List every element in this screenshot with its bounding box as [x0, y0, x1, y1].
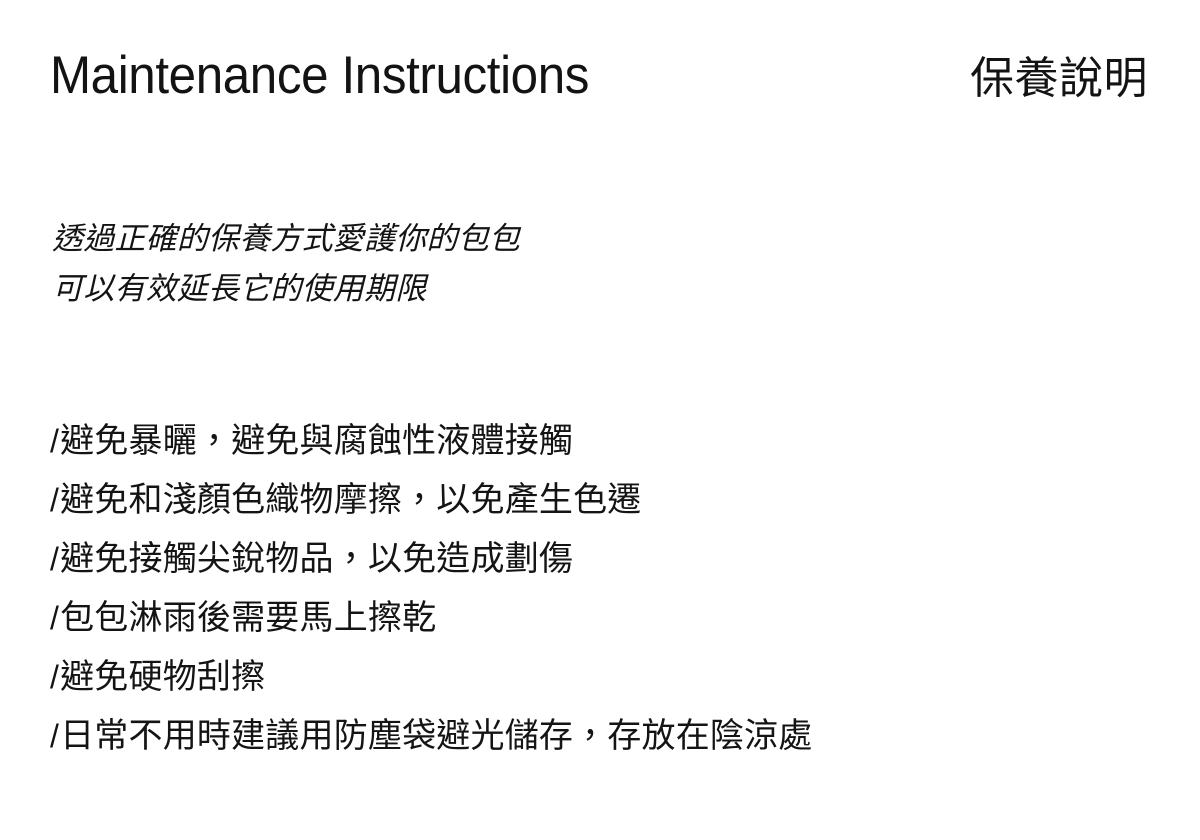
list-item: / 避免接觸尖銳物品，以免造成劃傷	[50, 530, 813, 589]
list-item: / 包包淋雨後需要馬上擦乾	[50, 589, 813, 648]
page-header: Maintenance Instructions 保養說明	[50, 44, 1148, 116]
list-item-label: 日常不用時建議用防塵袋避光儲存，存放在陰涼處	[60, 707, 812, 766]
page-title-english: Maintenance Instructions	[50, 44, 589, 108]
intro-paragraph: 透過正確的保養方式愛護你的包包 可以有效延長它的使用期限	[52, 214, 520, 314]
list-item-label: 包包淋雨後需要馬上擦乾	[60, 589, 436, 648]
list-item: / 日常不用時建議用防塵袋避光儲存，存放在陰涼處	[50, 707, 813, 766]
care-instruction-list: / 避免暴曬，避免與腐蝕性液體接觸 / 避免和淺顏色織物摩擦，以免產生色遷 / …	[50, 412, 813, 766]
list-item-label: 避免硬物刮擦	[60, 648, 265, 707]
list-item: / 避免暴曬，避免與腐蝕性液體接觸	[50, 412, 813, 471]
maintenance-instructions-page: Maintenance Instructions 保養說明 透過正確的保養方式愛…	[0, 0, 1200, 840]
slash-bullet-icon: /	[50, 707, 59, 766]
slash-bullet-icon: /	[50, 471, 59, 530]
list-item-label: 避免接觸尖銳物品，以免造成劃傷	[60, 530, 573, 589]
intro-line-2: 可以有效延長它的使用期限	[52, 264, 520, 314]
slash-bullet-icon: /	[50, 412, 59, 471]
list-item-label: 避免暴曬，避免與腐蝕性液體接觸	[60, 412, 573, 471]
list-item-label: 避免和淺顏色織物摩擦，以免產生色遷	[60, 471, 641, 530]
list-item: / 避免和淺顏色織物摩擦，以免產生色遷	[50, 471, 813, 530]
list-item: / 避免硬物刮擦	[50, 648, 813, 707]
slash-bullet-icon: /	[50, 589, 59, 648]
page-title-chinese: 保養說明	[970, 47, 1148, 111]
slash-bullet-icon: /	[50, 530, 59, 589]
slash-bullet-icon: /	[50, 648, 59, 707]
intro-line-1: 透過正確的保養方式愛護你的包包	[52, 214, 520, 264]
